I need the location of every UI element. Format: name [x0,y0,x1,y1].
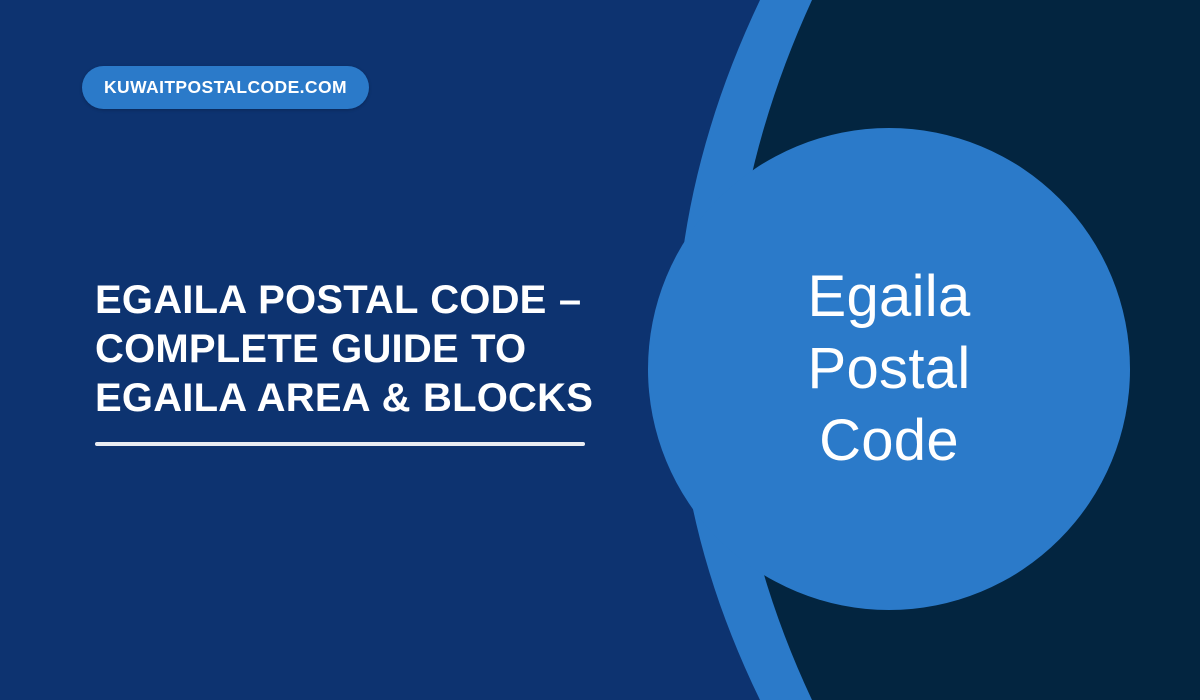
circle-badge-line-3: Code [674,405,1104,477]
circle-badge-text: Egaila Postal Code [648,261,1130,477]
circle-badge-line-1: Egaila [674,261,1104,333]
left-content-column: KUWAITPOSTALCODE.COM Egaila Postal Code … [0,0,640,700]
circle-badge-line-2: Postal [674,333,1104,405]
hero-banner: Egaila Postal Code KUWAITPOSTALCODE.COM … [0,0,1200,700]
page-title: Egaila Postal Code – Complete Guide to E… [95,276,595,423]
headline-underline-rule [95,442,585,446]
circle-badge: Egaila Postal Code [648,128,1130,610]
site-url-badge-label: KUWAITPOSTALCODE.COM [104,77,347,98]
site-url-badge[interactable]: KUWAITPOSTALCODE.COM [82,66,369,109]
headline-block: Egaila Postal Code – Complete Guide to E… [95,276,595,446]
